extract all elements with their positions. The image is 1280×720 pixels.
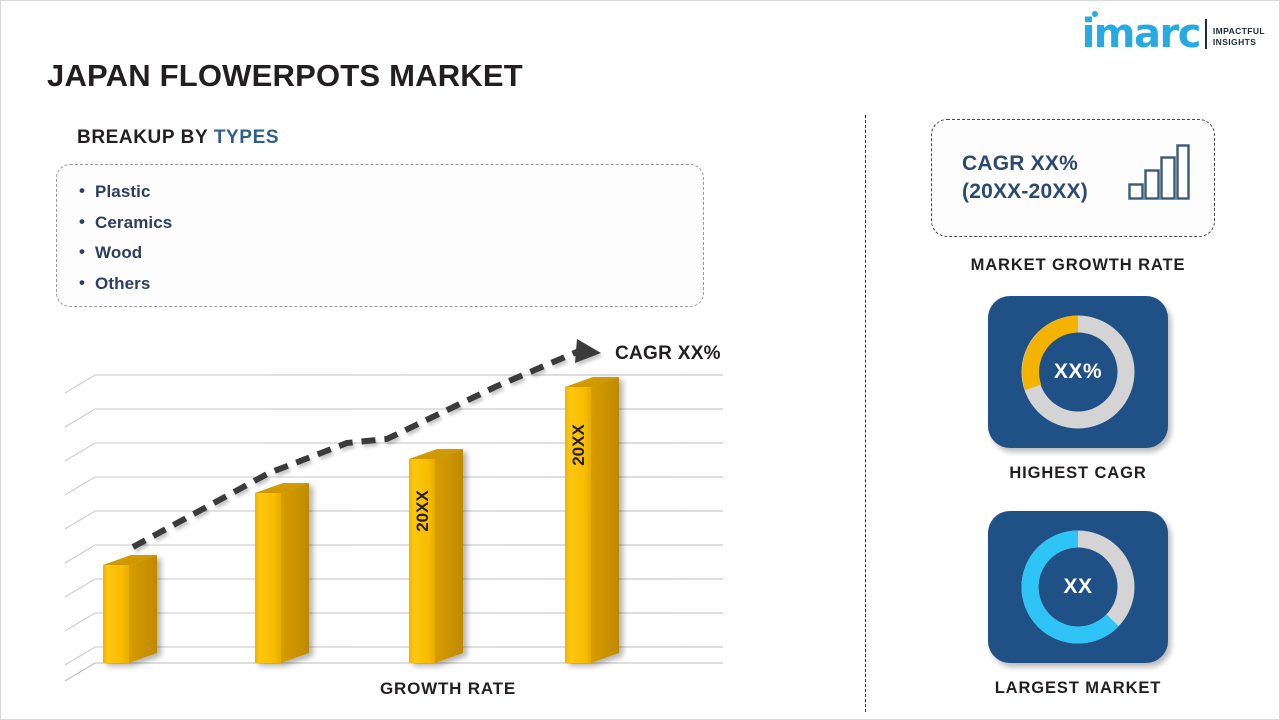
page-title: JAPAN FLOWERPOTS MARKET xyxy=(47,58,523,94)
chart-svg: 20XX 20XX xyxy=(57,331,757,681)
logo-wordmark-text: imarc xyxy=(1082,11,1200,57)
logo-divider xyxy=(1205,19,1207,49)
highest-cagr-card: XX% xyxy=(988,296,1168,448)
highest-cagr-label: HIGHEST CAGR xyxy=(931,464,1225,483)
list-item-label: Plastic xyxy=(95,182,151,201)
cagr-box-text: CAGR XX% (20XX-20XX) xyxy=(962,150,1088,206)
logo-tagline: IMPACTFUL INSIGHTS xyxy=(1213,26,1265,48)
breakup-heading-prefix: BREAKUP BY xyxy=(77,127,214,148)
list-item: Ceramics xyxy=(79,208,703,239)
bar-3 xyxy=(409,449,463,663)
logo-dot-icon xyxy=(1092,11,1098,17)
cagr-box-line1: CAGR XX% xyxy=(962,150,1088,178)
largest-market-card: XX xyxy=(988,511,1168,663)
growth-rate-chart: 20XX 20XX CAGR XX% GROWTH RATE xyxy=(57,331,757,691)
bar-1 xyxy=(103,555,157,663)
bar-2 xyxy=(255,483,309,663)
list-item-label: Wood xyxy=(95,243,142,262)
trendline-arrowhead xyxy=(575,339,601,363)
bar-4 xyxy=(565,377,619,663)
list-item: Plastic xyxy=(79,177,703,208)
bar-chart-icon xyxy=(1128,144,1190,205)
types-list-box: Plastic Ceramics Wood Others xyxy=(56,164,704,307)
section-divider xyxy=(865,115,866,712)
chart-cagr-annotation: CAGR XX% xyxy=(615,343,721,365)
highest-cagr-value: XX% xyxy=(988,360,1168,384)
largest-market-value: XX xyxy=(988,575,1168,599)
breakup-heading: BREAKUP BY TYPES xyxy=(77,127,279,149)
logo-tagline-line1: IMPACTFUL xyxy=(1213,26,1265,37)
list-item-label: Ceramics xyxy=(95,213,172,232)
chart-axis-label: GROWTH RATE xyxy=(348,679,548,699)
list-item: Wood xyxy=(79,238,703,269)
market-growth-rate-label: MARKET GROWTH RATE xyxy=(931,256,1225,275)
list-item-label: Others xyxy=(95,274,150,293)
bar-3-label: 20XX xyxy=(413,490,432,532)
types-list: Plastic Ceramics Wood Others xyxy=(79,177,703,299)
logo-wordmark: imarc xyxy=(1082,17,1200,51)
largest-market-label: LARGEST MARKET xyxy=(931,679,1225,698)
bar-4-label: 20XX xyxy=(569,424,588,466)
logo-tagline-line2: INSIGHTS xyxy=(1213,37,1265,48)
list-item: Others xyxy=(79,269,703,300)
infographic-page: imarc IMPACTFUL INSIGHTS JAPAN FLOWERPOT… xyxy=(0,0,1280,720)
cagr-box-line2: (20XX-20XX) xyxy=(962,178,1088,206)
breakup-heading-accent: TYPES xyxy=(214,127,279,148)
imarc-logo: imarc IMPACTFUL INSIGHTS xyxy=(1082,11,1265,51)
cagr-box: CAGR XX% (20XX-20XX) xyxy=(931,119,1215,237)
right-panel: CAGR XX% (20XX-20XX) MARKET GROWTH RATE … xyxy=(931,119,1225,698)
